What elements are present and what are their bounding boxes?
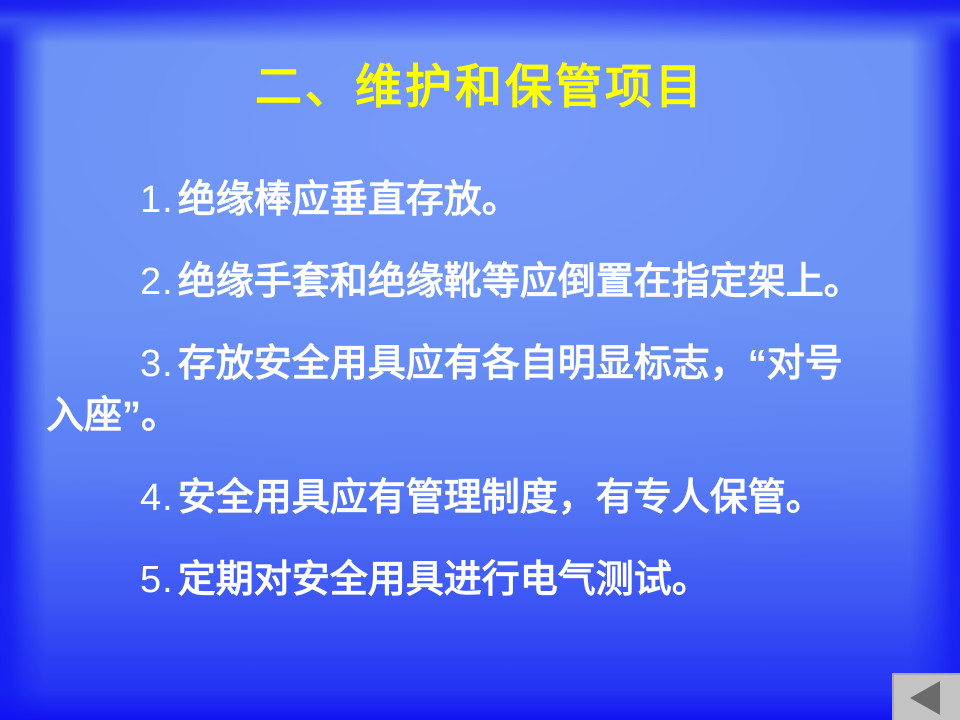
list-item-number: 4. [140,477,178,519]
slide-title: 二、维护和保管项目 [0,58,960,116]
list-item-text: 绝缘手套和绝缘靴等应倒置在指定架上。 [178,261,862,303]
list-item-text: 安全用具应有管理制度，有专人保管。 [178,477,824,519]
slide-canvas: 二、维护和保管项目 1.绝缘棒应垂直存放。 2.绝缘手套和绝缘靴等应倒置在指定架… [0,0,960,720]
list-item: 3.存放安全用具应有各自明显标志，“对号 [0,338,960,390]
list-item: 5.定期对安全用具进行电气测试。 [0,554,960,606]
bullet-list: 1.绝缘棒应垂直存放。 2.绝缘手套和绝缘靴等应倒置在指定架上。 3.存放安全用… [0,174,960,636]
list-item-number: 2. [140,261,178,303]
triangle-left-icon [910,681,940,715]
list-item-continuation: 入座”。 [0,390,960,442]
back-button[interactable] [892,673,960,720]
list-item: 4.安全用具应有管理制度，有专人保管。 [0,472,960,524]
list-item-number: 5. [140,559,178,601]
list-item-text: 定期对安全用具进行电气测试。 [178,559,710,601]
list-item-text: 绝缘棒应垂直存放。 [178,179,520,221]
list-item-number: 1. [140,179,178,221]
list-item: 1.绝缘棒应垂直存放。 [0,174,960,226]
list-item: 2.绝缘手套和绝缘靴等应倒置在指定架上。 [0,256,960,308]
list-item-number: 3. [140,343,178,385]
list-item-text: 存放安全用具应有各自明显标志，“对号 [178,343,843,385]
